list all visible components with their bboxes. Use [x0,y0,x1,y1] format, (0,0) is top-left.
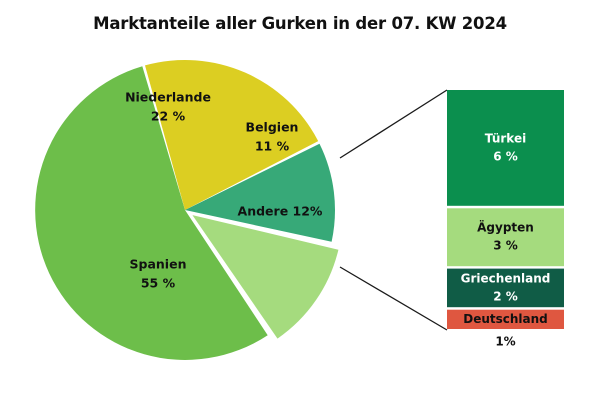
bar-label-aegypten-value: 3 % [493,239,518,253]
pie-and-breakout-svg: Niederlande 22 % Belgien 11 % Andere 12%… [0,0,600,400]
pie-label-spanien-name: Spanien [130,257,187,272]
bar-label-griechenland-value: 2 % [493,289,518,303]
bar-label-deutschland-value: 1% [495,335,515,349]
bar-label-griechenland-name: Griechenland [461,271,551,285]
pie-label-belgien-name: Belgien [246,120,299,135]
bar-label-tuerkei-value: 6 % [493,149,518,163]
pie-label-andere: Andere 12% [238,204,323,219]
pie-label-belgien-value: 11 % [255,139,290,154]
chart-container: Marktanteile aller Gurken in der 07. KW … [0,0,600,400]
bar-label-deutschland-name: Deutschland [463,312,548,326]
bar-label-aegypten-name: Ägypten [477,220,534,235]
pie-label-spanien-value: 55 % [141,276,176,291]
breakout-stacked-bar: Türkei 6 % Ägypten 3 % Griechenland 2 % … [447,90,564,349]
bar-label-tuerkei-name: Türkei [485,131,526,145]
pie-label-niederlande-value: 22 % [151,109,186,124]
pie-label-niederlande-name: Niederlande [125,90,211,105]
bar-segment-tuerkei[interactable] [447,90,564,206]
breakout-connectors [340,90,447,330]
connector-line-top [340,90,447,158]
bar-segment-aegypten[interactable] [447,208,564,266]
connector-line-bottom [340,267,447,330]
